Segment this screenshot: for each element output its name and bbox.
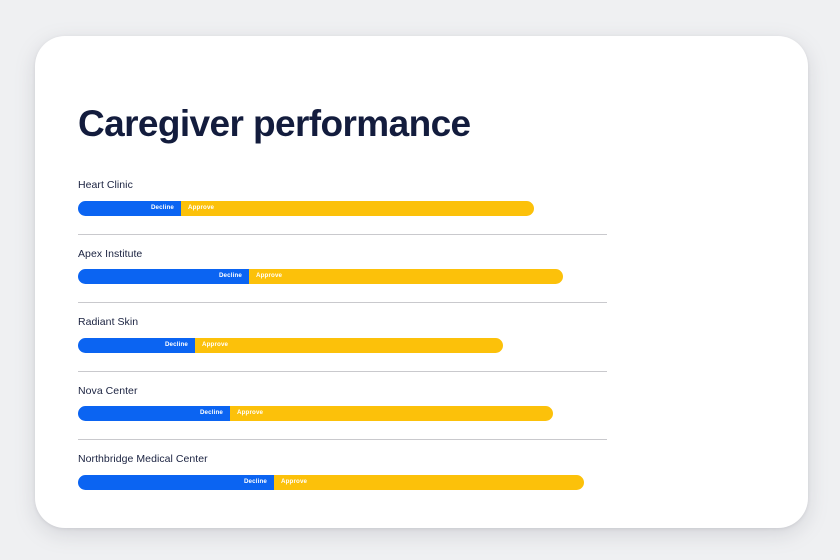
row-divider [78,439,607,440]
stacked-bar[interactable]: DeclineApprove [78,338,503,353]
row-divider [78,371,607,372]
bar-segment-approve[interactable]: Approve [274,475,584,490]
row-label: Northbridge Medical Center [78,454,610,465]
screenshot-canvas: Caregiver performance Heart ClinicDeclin… [0,0,840,560]
row-label: Radiant Skin [78,317,610,328]
stacked-bar[interactable]: DeclineApprove [78,406,553,421]
page-title: Caregiver performance [78,105,471,142]
row-divider [78,234,607,235]
row-label: Apex Institute [78,249,610,260]
bar-segment-decline[interactable]: Decline [78,201,181,216]
bar-segment-decline-label: Decline [219,273,242,279]
bar-segment-decline[interactable]: Decline [78,269,249,284]
stacked-bar[interactable]: DeclineApprove [78,475,584,490]
bar-segment-decline[interactable]: Decline [78,475,274,490]
bar-segment-decline-label: Decline [151,205,174,211]
row-label: Heart Clinic [78,180,610,191]
bar-segment-decline[interactable]: Decline [78,406,230,421]
bar-segment-approve[interactable]: Approve [181,201,534,216]
bar-segment-approve-label: Approve [281,479,307,485]
bar-segment-approve[interactable]: Approve [249,269,563,284]
performance-row: Nova CenterDeclineApprove [78,386,610,422]
bar-segment-decline-label: Decline [244,479,267,485]
bar-segment-decline-label: Decline [165,342,188,348]
bar-segment-approve[interactable]: Approve [195,338,503,353]
caregiver-performance-card: Caregiver performance Heart ClinicDeclin… [35,36,808,528]
bar-segment-approve-label: Approve [202,342,228,348]
bar-segment-approve-label: Approve [237,410,263,416]
performance-row: Apex InstituteDeclineApprove [78,249,610,285]
performance-row: Radiant SkinDeclineApprove [78,317,610,353]
performance-row-list: Heart ClinicDeclineApproveApex Institute… [78,180,610,508]
performance-row: Northbridge Medical CenterDeclineApprove [78,454,610,490]
bar-segment-approve-label: Approve [188,205,214,211]
bar-segment-approve-label: Approve [256,273,282,279]
row-divider [78,302,607,303]
stacked-bar[interactable]: DeclineApprove [78,269,563,284]
performance-row: Heart ClinicDeclineApprove [78,180,610,216]
bar-segment-decline-label: Decline [200,410,223,416]
bar-segment-approve[interactable]: Approve [230,406,553,421]
row-label: Nova Center [78,386,610,397]
stacked-bar[interactable]: DeclineApprove [78,201,534,216]
bar-segment-decline[interactable]: Decline [78,338,195,353]
